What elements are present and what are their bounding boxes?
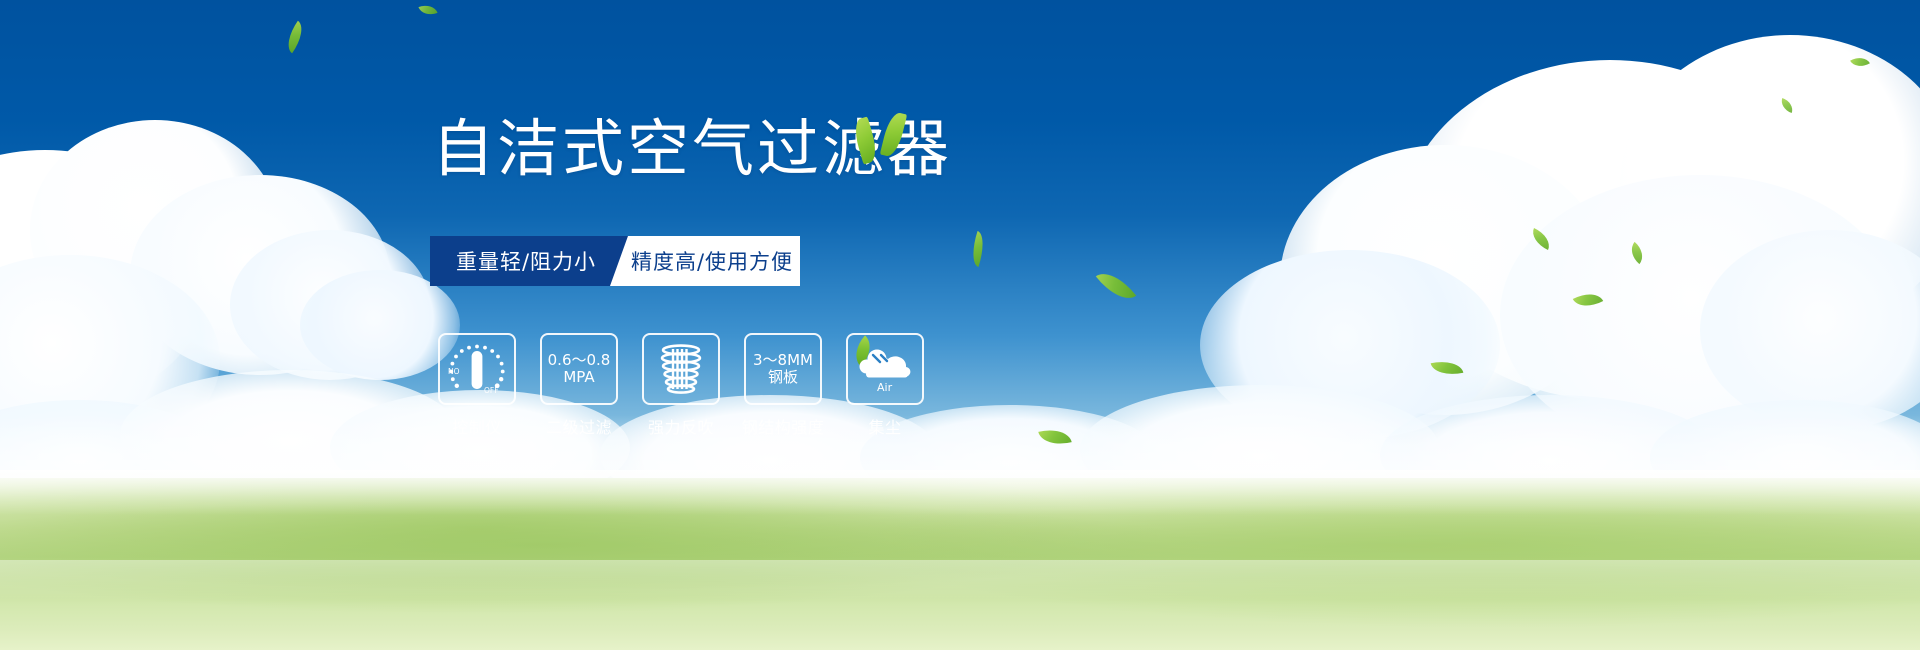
- steel-thickness: 3〜8MM: [753, 352, 813, 369]
- coil-filter-icon: [653, 341, 709, 397]
- feature-label: 强力反吹: [648, 414, 714, 438]
- feature-label: 钢结构强度: [742, 414, 825, 438]
- dial-label-off: OFF: [484, 386, 499, 395]
- feature-label: 集尘: [868, 414, 901, 438]
- feature-icon-box: 0.6〜0.8 MPA: [540, 333, 618, 405]
- leaf-shape: [880, 111, 907, 159]
- pressure-unit: MPA: [548, 369, 611, 386]
- tab-weight-resistance[interactable]: 重量轻/阻力小: [430, 236, 628, 286]
- steel-plate-text-icon: 3〜8MM 钢板: [753, 352, 813, 386]
- feature-icon-box: [642, 333, 720, 405]
- banner-content: 自洁式空气过滤器 重量轻/阻力小 精度高/使用方便: [0, 0, 1920, 650]
- pressure-value: 0.6〜0.8: [548, 352, 611, 369]
- product-banner: 自洁式空气过滤器 重量轻/阻力小 精度高/使用方便: [0, 0, 1920, 650]
- feature-item-dust[interactable]: Air 集尘: [846, 333, 924, 438]
- dial-label-no: NO: [448, 367, 460, 376]
- feature-icon-box: 3〜8MM 钢板: [744, 333, 822, 405]
- feature-item-controller[interactable]: NO OFF 控制仪: [438, 333, 516, 438]
- feature-icon-box: Air: [846, 333, 924, 405]
- feature-item-backblow[interactable]: 强力反吹: [642, 333, 720, 438]
- steel-material: 钢板: [753, 369, 813, 386]
- two-leaves-icon: [855, 108, 915, 163]
- feature-item-pressure[interactable]: 0.6〜0.8 MPA 二级过滤: [540, 333, 618, 438]
- feature-label: 二级过滤: [546, 414, 612, 438]
- feature-label: 控制仪: [452, 414, 502, 438]
- leaf-shape: [851, 117, 880, 165]
- feature-item-steel[interactable]: 3〜8MM 钢板 钢结构强度: [744, 333, 822, 438]
- feature-icon-list: NO OFF 控制仪 0.6〜0.8 MPA 二级过滤: [438, 333, 924, 438]
- pressure-text-icon: 0.6〜0.8 MPA: [548, 352, 611, 386]
- air-cloud-icon: Air: [854, 343, 916, 395]
- tab-precision-convenience[interactable]: 精度高/使用方便: [610, 236, 800, 286]
- control-dial-icon: NO OFF: [446, 341, 508, 397]
- feature-icon-box: NO OFF: [438, 333, 516, 405]
- feature-tabs: 重量轻/阻力小 精度高/使用方便: [430, 236, 800, 286]
- air-label: Air: [877, 381, 893, 394]
